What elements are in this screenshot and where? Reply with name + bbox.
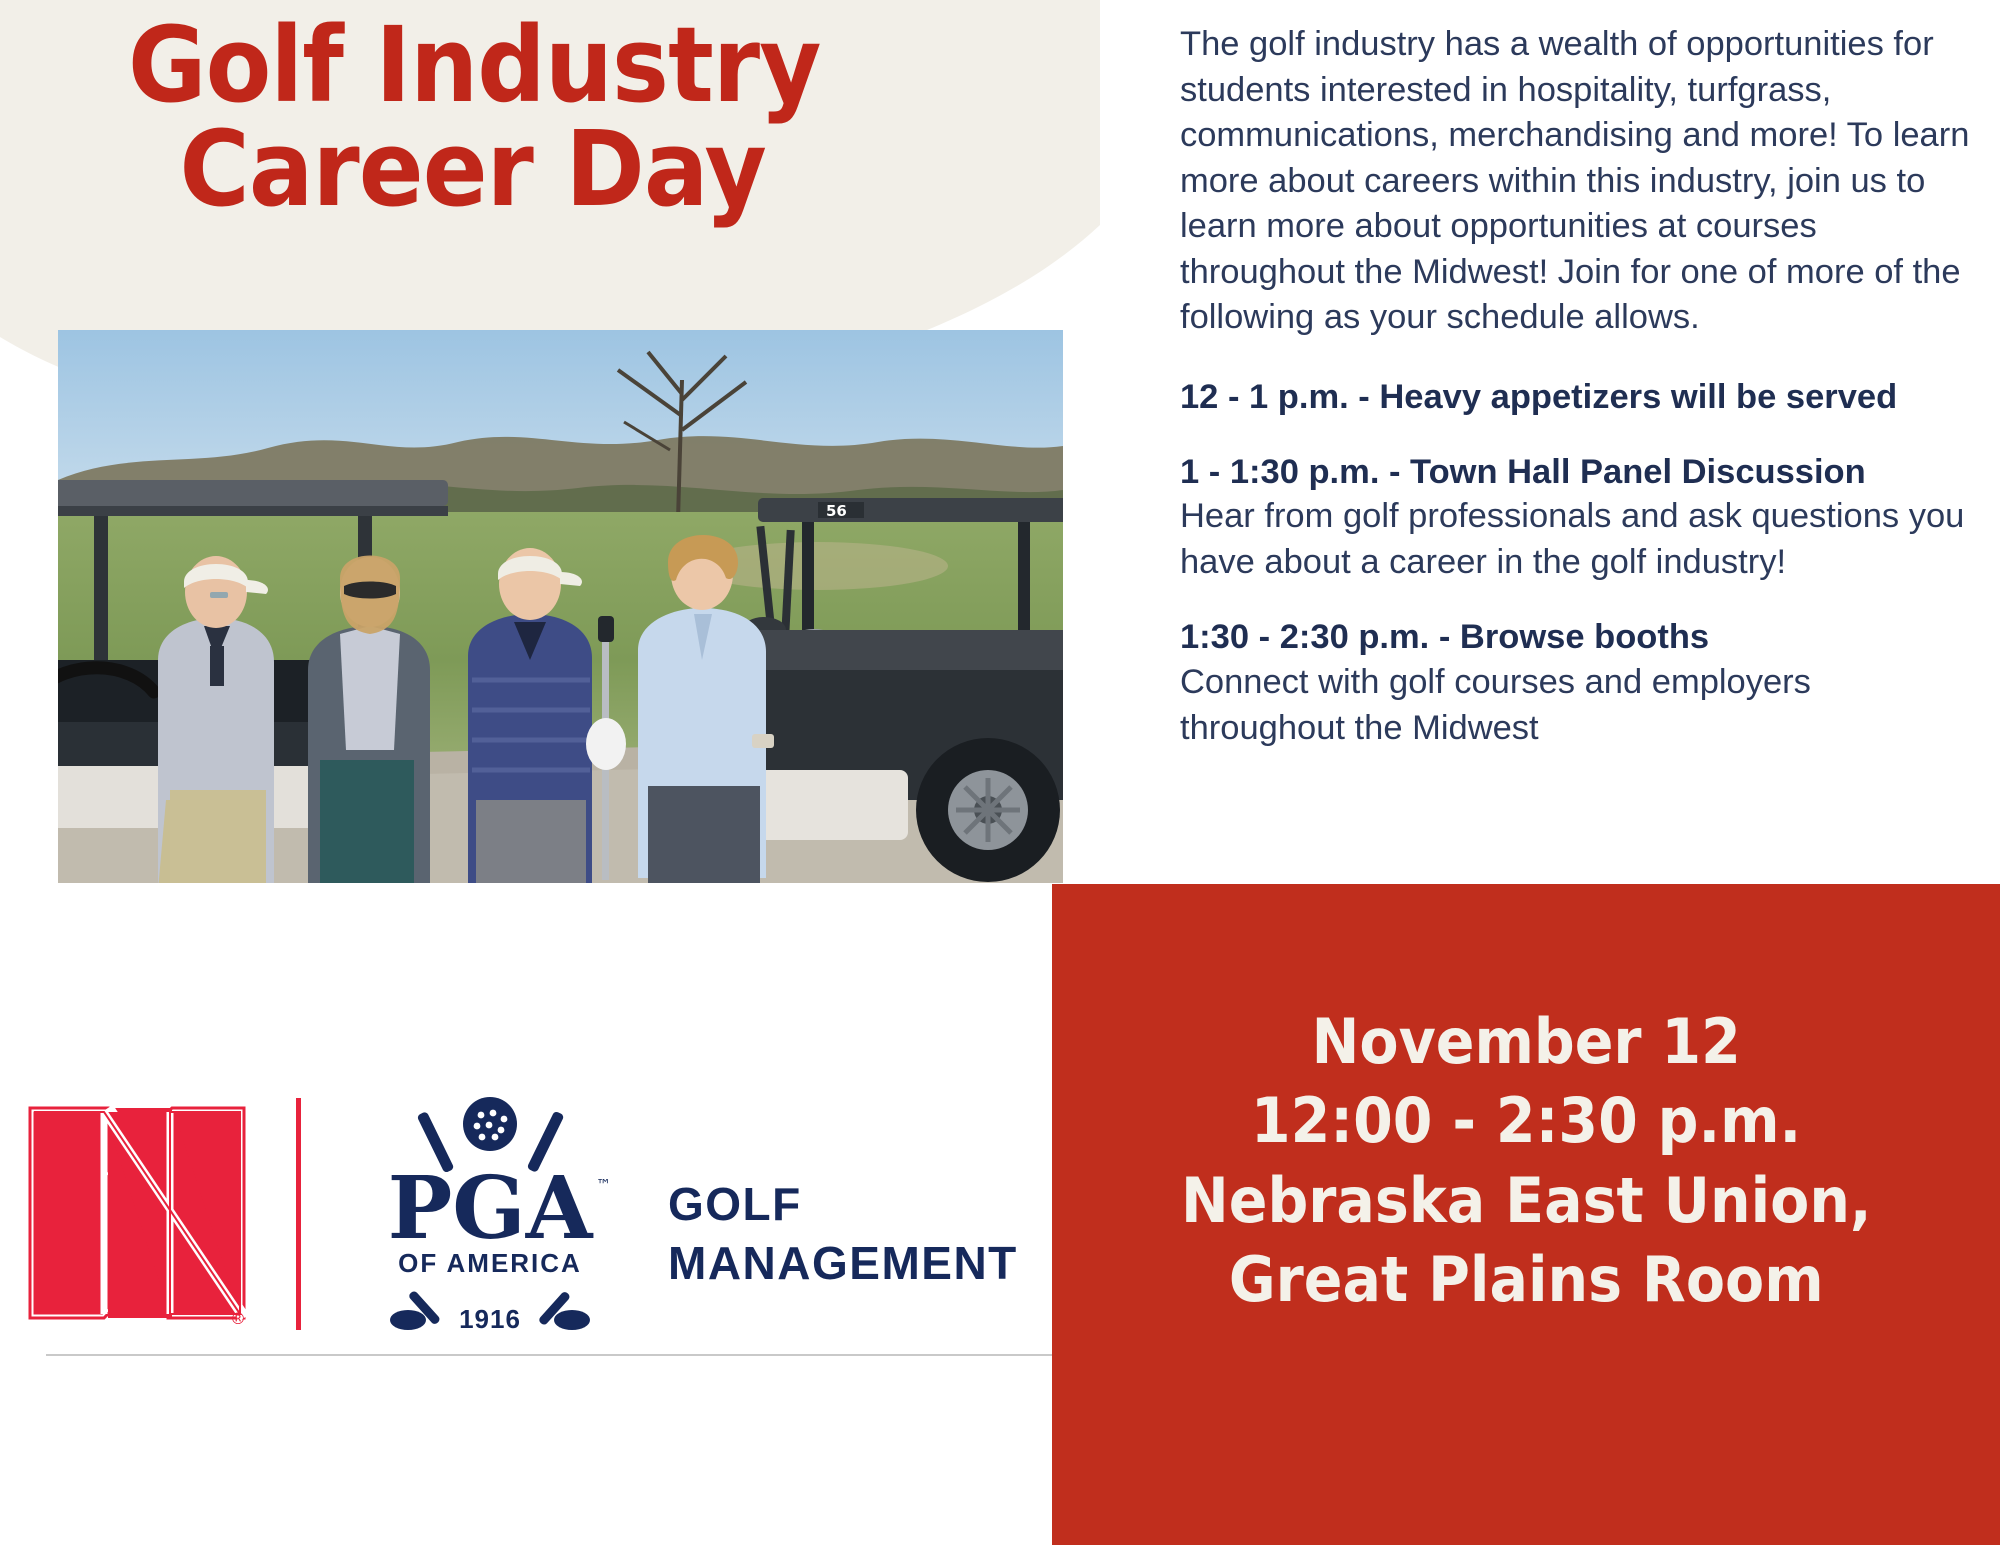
pga-of-america-text: OF AMERICA bbox=[398, 1248, 582, 1278]
pga-of-america-logo: PGA ™ OF AMERICA 1916 bbox=[350, 1088, 630, 1338]
event-description-column: The golf industry has a wealth of opport… bbox=[1180, 22, 1970, 781]
golf-management-line-1: GOLF bbox=[668, 1175, 1018, 1234]
golf-management-wordmark: GOLF MANAGEMENT bbox=[668, 1175, 1018, 1293]
group-photo: 56 bbox=[58, 330, 1063, 883]
golf-management-line-2: MANAGEMENT bbox=[668, 1234, 1018, 1293]
title-line-1: Golf Industry bbox=[128, 18, 910, 114]
schedule-heading: 1 - 1:30 p.m. - Town Hall Panel Discussi… bbox=[1180, 450, 1970, 495]
schedule-heading: 12 - 1 p.m. - Heavy appetizers will be s… bbox=[1180, 375, 1970, 420]
event-date: November 12 bbox=[1311, 1002, 1740, 1081]
event-venue-line-1: Nebraska East Union, bbox=[1181, 1161, 1872, 1240]
pga-year-text: 1916 bbox=[459, 1304, 521, 1334]
pga-trademark-mark: ™ bbox=[596, 1176, 611, 1194]
event-details-panel: November 12 12:00 - 2:30 p.m. Nebraska E… bbox=[1052, 884, 2000, 1545]
pga-wordmark-text: PGA bbox=[388, 1158, 594, 1259]
footer-rule bbox=[46, 1354, 1052, 1356]
schedule-body: Hear from golf professionals and ask que… bbox=[1180, 494, 1970, 585]
schedule-item-browse-booths: 1:30 - 2:30 p.m. - Browse booths Connect… bbox=[1180, 615, 1970, 751]
event-venue-line-2: Great Plains Room bbox=[1229, 1240, 1824, 1319]
schedule-item-appetizers: 12 - 1 p.m. - Heavy appetizers will be s… bbox=[1180, 375, 1970, 420]
schedule-item-town-hall: 1 - 1:30 p.m. - Town Hall Panel Discussi… bbox=[1180, 450, 1970, 586]
nebraska-n-logo: ® bbox=[22, 1100, 252, 1328]
svg-text:56: 56 bbox=[826, 502, 847, 520]
schedule-body: Connect with golf courses and employers … bbox=[1180, 660, 1970, 751]
logo-divider bbox=[296, 1098, 301, 1330]
logo-band: ® PGA ™ OF AMERICA bbox=[0, 1070, 1060, 1400]
intro-paragraph: The golf industry has a wealth of opport… bbox=[1180, 22, 1970, 341]
schedule-heading: 1:30 - 2:30 p.m. - Browse booths bbox=[1180, 615, 1970, 660]
page-title: Golf Industry Career Day bbox=[128, 18, 978, 217]
title-line-2: Career Day bbox=[128, 122, 910, 218]
event-time: 12:00 - 2:30 p.m. bbox=[1251, 1081, 1801, 1160]
nebraska-trademark-mark: ® bbox=[230, 1309, 246, 1328]
